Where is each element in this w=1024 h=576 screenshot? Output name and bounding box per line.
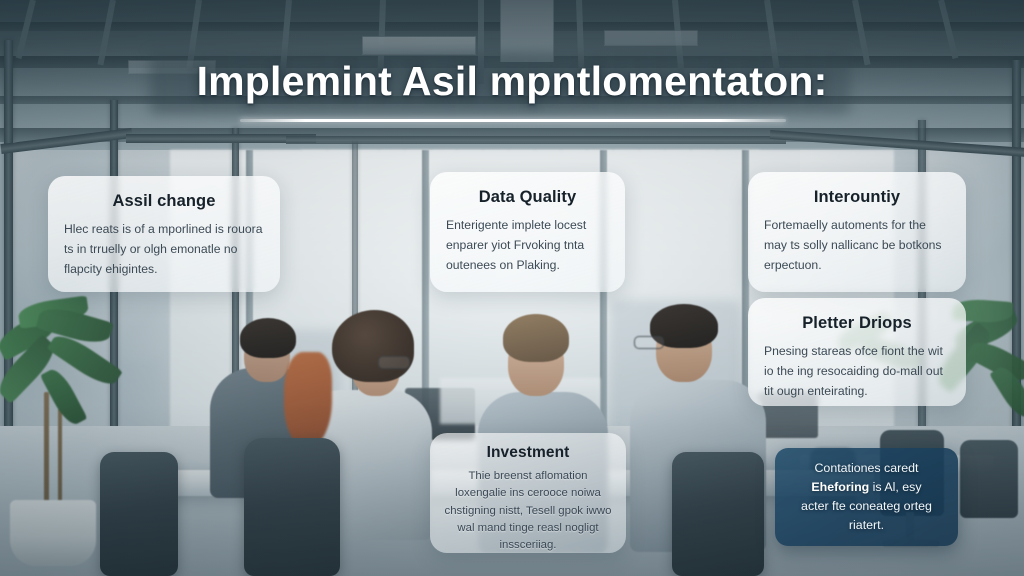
callout-text: Contationes caredtEheforing is Al, esyac… [801,459,932,536]
callout-line-1: Contationes caredt [814,461,918,475]
card-title: Data Quality [446,188,609,207]
page-title: Implemint Asil mpntlomentaton: [0,58,1024,105]
card-title: Investment [444,444,612,462]
card-title: Interountiy [764,188,950,207]
highlight-callout-box[interactable]: Contationes caredtEheforing is Al, esyac… [775,448,958,546]
card-body: Thie breenst aflomation loxengalie ins c… [444,468,612,553]
card-title: Assil change [64,192,264,211]
callout-line-2: is Al, esy [869,480,921,494]
info-card-asset-change[interactable]: Assil change Hlec reats is of a mporline… [48,176,280,292]
slide-canvas: Implemint Asil mpntlomentaton: Assil cha… [0,0,1024,576]
title-underline [240,119,786,122]
info-card-investment[interactable]: Investment Thie breenst aflomation loxen… [430,433,626,553]
info-card-pletter-driops[interactable]: Pletter Driops Pnesing stareas ofce fion… [748,298,966,406]
card-body: Enterigente implete locest enparer yiot … [446,216,609,275]
card-body: Pnesing stareas ofce fiont the wit io th… [764,342,950,401]
info-card-interoperability[interactable]: Interountiy Fortemaelly automents for th… [748,172,966,292]
card-body: Fortemaelly automents for the may ts sol… [764,216,950,275]
callout-emphasis: Eheforing [811,480,869,494]
card-body: Hlec reats is of a mporlined is rouora t… [64,220,264,279]
card-title: Pletter Driops [764,314,950,333]
info-card-data-quality[interactable]: Data Quality Enterigente implete locest … [430,172,625,292]
callout-line-3: acter fte coneateg orteg [801,499,932,513]
callout-line-4: riatert. [849,518,884,532]
slide-overlay: Implemint Asil mpntlomentaton: Assil cha… [0,0,1024,576]
